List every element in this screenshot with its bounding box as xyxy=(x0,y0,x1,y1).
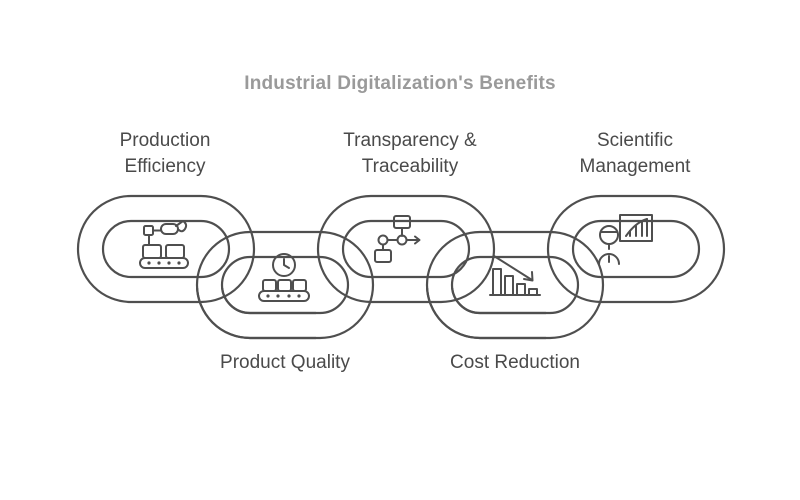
chain-link-product-quality[interactable] xyxy=(197,232,373,338)
clock-conveyor-icon xyxy=(259,254,309,301)
chain-link-transparency-traceability[interactable] xyxy=(318,196,494,302)
chain-graphic xyxy=(0,0,800,500)
link-4-weave-front xyxy=(427,232,603,338)
link-4-outer-shape xyxy=(427,232,603,338)
link-3-inner-hole xyxy=(343,221,469,277)
flowchart-nodes-icon xyxy=(375,216,420,262)
chain-link-scientific-management[interactable] xyxy=(548,196,724,302)
presenter-growth-chart-icon xyxy=(599,215,652,264)
chain-link-cost-reduction[interactable] xyxy=(427,232,603,338)
infographic-canvas: Industrial Digitalization's Benefits Pro… xyxy=(0,0,800,500)
link-4-inner-hole xyxy=(452,257,578,313)
declining-bar-chart-icon xyxy=(490,256,540,295)
link-3-outer-shape xyxy=(318,196,494,302)
link-2-outer-shape xyxy=(197,232,373,338)
link-5-outer-shape xyxy=(548,196,724,302)
robot-arm-conveyor-icon xyxy=(140,221,188,268)
link-2-weave-front xyxy=(197,232,373,338)
